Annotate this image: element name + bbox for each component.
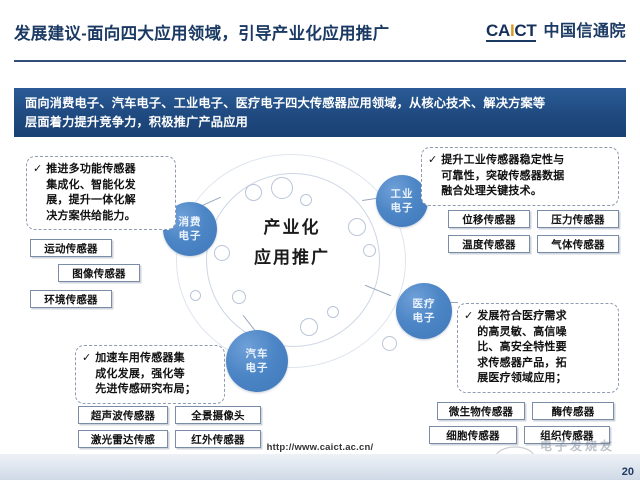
header-divider bbox=[14, 60, 626, 62]
chip-industrial-3[interactable]: 气体传感器 bbox=[537, 235, 619, 253]
callout-medical: ✓ 发展符合医疗需求 的高灵敏、高信噪 比、高安全特性要 求传感器产品，拓 展医… bbox=[457, 303, 619, 393]
bubble-medical-line-2: 电子 bbox=[413, 311, 436, 325]
decor-bubble-8 bbox=[300, 318, 318, 336]
chip-medical-1[interactable]: 酶传感器 bbox=[532, 402, 614, 420]
chip-medical-0[interactable]: 微生物传感器 bbox=[437, 402, 525, 420]
decor-bubble-9 bbox=[327, 306, 339, 318]
callout-medical-line-4: 求传感器产品，拓 bbox=[477, 357, 567, 369]
logo-chinese-name: 中国信通院 bbox=[543, 24, 626, 40]
callout-consumer: ✓ 推进多功能传感器 集成化、智能化发 展，提升一体化解 决方案供给能力。 bbox=[26, 156, 176, 230]
slide-footer: http://www.caict.ac.cn/ 20 bbox=[0, 454, 640, 480]
bubble-industrial-line-2: 电子 bbox=[391, 201, 414, 215]
callout-automotive-line-3: 先进传感研究布局； bbox=[95, 383, 196, 395]
callout-industrial-line-3: 融合处理关键技术。 bbox=[441, 185, 542, 197]
bubble-medical-electronics[interactable]: 医疗 电子 bbox=[396, 283, 452, 339]
center-line-2: 应用推广 bbox=[216, 243, 368, 273]
callout-automotive: ✓ 加速车用传感器集 成化发展，强化等 先进传感研究布局； bbox=[75, 345, 225, 404]
callout-industrial-line-1: 提升工业传感器稳定性与 bbox=[441, 154, 564, 166]
bubble-automotive-line-1: 汽车 bbox=[246, 347, 269, 361]
bubble-industrial-line-1: 工业 bbox=[391, 187, 414, 201]
chip-industrial-2[interactable]: 温度传感器 bbox=[448, 235, 530, 253]
callout-automotive-line-2: 成化发展，强化等 bbox=[95, 368, 185, 380]
callout-automotive-line-1: 加速车用传感器集 bbox=[95, 352, 185, 364]
banner-line-2: 层面着力提升竞争力，积极推广产品应用 bbox=[25, 113, 616, 132]
callout-industrial-line-2: 可靠性，突破传感器数据 bbox=[441, 170, 564, 182]
callout-medical-line-5: 展医疗领域应用； bbox=[477, 372, 567, 384]
decor-bubble-2 bbox=[271, 177, 293, 199]
page-number: 20 bbox=[622, 466, 634, 478]
summary-banner: 面向消费电子、汽车电子、工业电子、医疗电子四大传感器应用领域，从核心技术、解决方… bbox=[14, 88, 626, 137]
decor-bubble-3 bbox=[300, 194, 312, 206]
bubble-consumer-line-1: 消费 bbox=[179, 215, 202, 229]
chip-consumer-1[interactable]: 图像传感器 bbox=[58, 264, 140, 282]
diagram-canvas: 产业化 应用推广 消费 电子 工业 电子 医疗 电子 汽车 电子 ✓ 推进多功能… bbox=[0, 140, 640, 455]
check-icon-medical: ✓ bbox=[464, 309, 473, 387]
chip-industrial-1[interactable]: 压力传感器 bbox=[537, 210, 619, 228]
check-icon-industrial: ✓ bbox=[428, 153, 437, 200]
callout-industrial: ✓ 提升工业传感器稳定性与 可靠性，突破传感器数据 融合处理关键技术。 bbox=[421, 147, 619, 206]
callout-medical-line-2: 的高灵敏、高信噪 bbox=[477, 326, 567, 338]
caict-logo: CAICT 中国信通院 bbox=[486, 22, 626, 42]
callout-medical-text: 发展符合医疗需求 的高灵敏、高信噪 比、高安全特性要 求传感器产品，拓 展医疗领… bbox=[477, 309, 567, 387]
bubble-automotive-electronics[interactable]: 汽车 电子 bbox=[226, 330, 288, 392]
callout-consumer-text: 推进多功能传感器 集成化、智能化发 展，提升一体化解 决方案供给能力。 bbox=[46, 162, 136, 224]
callout-consumer-line-2: 集成化、智能化发 bbox=[46, 179, 136, 191]
chip-automotive-1[interactable]: 全景摄像头 bbox=[175, 406, 261, 424]
callout-consumer-line-3: 展，提升一体化解 bbox=[46, 194, 136, 206]
center-line-1: 产业化 bbox=[216, 213, 368, 243]
banner-line-1: 面向消费电子、汽车电子、工业电子、医疗电子四大传感器应用领域，从核心技术、解决方… bbox=[25, 94, 616, 113]
callout-consumer-line-4: 决方案供给能力。 bbox=[46, 210, 136, 222]
slide-header: 发展建议-面向四大应用领域，引导产业化应用推广 CAICT 中国信通院 bbox=[0, 0, 640, 62]
check-icon-automotive: ✓ bbox=[82, 351, 91, 398]
chip-consumer-0[interactable]: 运动传感器 bbox=[30, 239, 112, 257]
bubble-medical-line-1: 医疗 bbox=[413, 297, 436, 311]
chip-industrial-0[interactable]: 位移传感器 bbox=[448, 210, 530, 228]
bubble-automotive-line-2: 电子 bbox=[246, 361, 269, 375]
caict-wordmark: CAICT bbox=[486, 22, 536, 42]
bubble-consumer-line-2: 电子 bbox=[179, 229, 202, 243]
decor-bubble-10 bbox=[382, 336, 397, 351]
chip-automotive-0[interactable]: 超声波传感器 bbox=[78, 406, 168, 424]
footer-url[interactable]: http://www.caict.ac.cn/ bbox=[0, 442, 640, 453]
callout-medical-line-1: 发展符合医疗需求 bbox=[477, 310, 567, 322]
decor-bubble-7 bbox=[232, 290, 246, 304]
slide: 发展建议-面向四大应用领域，引导产业化应用推广 CAICT 中国信通院 面向消费… bbox=[0, 0, 640, 480]
center-label: 产业化 应用推广 bbox=[216, 213, 368, 273]
callout-automotive-text: 加速车用传感器集 成化发展，强化等 先进传感研究布局； bbox=[95, 351, 196, 398]
chip-consumer-2[interactable]: 环境传感器 bbox=[30, 290, 112, 308]
decor-bubble-1 bbox=[245, 184, 262, 201]
logo-ca-text: CA bbox=[486, 21, 510, 40]
page-title: 发展建议-面向四大应用领域，引导产业化应用推广 bbox=[14, 20, 389, 44]
callout-industrial-text: 提升工业传感器稳定性与 可靠性，突破传感器数据 融合处理关键技术。 bbox=[441, 153, 564, 200]
callout-consumer-line-1: 推进多功能传感器 bbox=[46, 163, 136, 175]
decor-bubble-11 bbox=[190, 290, 201, 301]
check-icon-consumer: ✓ bbox=[33, 162, 42, 224]
callout-medical-line-3: 比、高安全特性要 bbox=[477, 341, 567, 353]
logo-ct-text: CT bbox=[514, 21, 536, 40]
